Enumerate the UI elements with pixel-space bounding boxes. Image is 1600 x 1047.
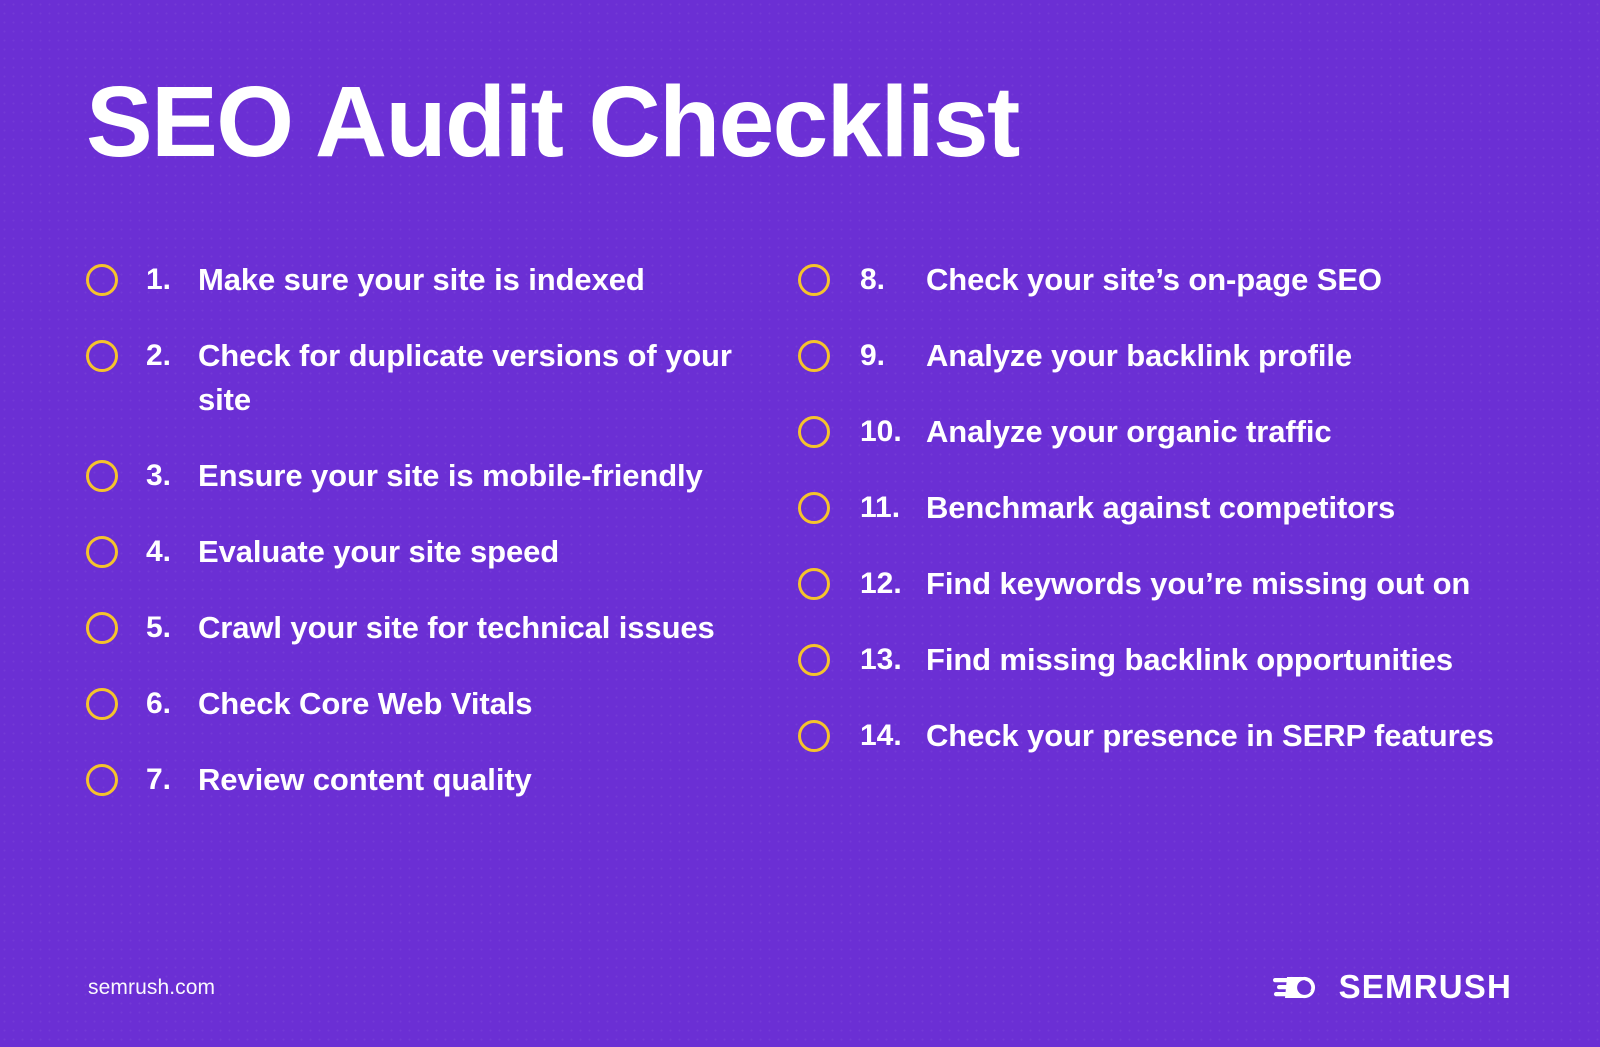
- page-title: SEO Audit Checklist: [86, 68, 1019, 176]
- checklist-column-left: 1.Make sure your site is indexed2.Check …: [86, 258, 786, 802]
- footer-website-url: semrush.com: [88, 976, 215, 1000]
- checkbox-circle-icon[interactable]: [86, 612, 118, 644]
- checklist-item[interactable]: 1.Make sure your site is indexed: [86, 258, 786, 302]
- checklist-item-label: Review content quality: [198, 758, 758, 802]
- checklist-item[interactable]: 14.Check your presence in SERP features: [798, 714, 1578, 758]
- checklist-item[interactable]: 6.Check Core Web Vitals: [86, 682, 786, 726]
- checkbox-circle-icon[interactable]: [798, 492, 830, 524]
- checklist-item-label: Benchmark against competitors: [926, 486, 1546, 530]
- checklist-item-number: 3.: [146, 454, 198, 498]
- checklist-item-label: Check your presence in SERP features: [926, 714, 1546, 758]
- checklist-item-number: 14.: [860, 714, 926, 758]
- checklist-item[interactable]: 13.Find missing backlink opportunities: [798, 638, 1578, 682]
- checklist-item-label: Make sure your site is indexed: [198, 258, 758, 302]
- checklist-item[interactable]: 8.Check your site’s on-page SEO: [798, 258, 1578, 302]
- semrush-wordmark: SEMRUSH: [1339, 970, 1512, 1003]
- checklist-item[interactable]: 7.Review content quality: [86, 758, 786, 802]
- checklist-item-label: Analyze your organic traffic: [926, 410, 1546, 454]
- checkbox-circle-icon[interactable]: [86, 764, 118, 796]
- checklist-item-number: 2.: [146, 334, 198, 378]
- checklist-item[interactable]: 5.Crawl your site for technical issues: [86, 606, 786, 650]
- checkbox-circle-icon[interactable]: [798, 340, 830, 372]
- checklist-item[interactable]: 10.Analyze your organic traffic: [798, 410, 1578, 454]
- checklist-item-label: Evaluate your site speed: [198, 530, 758, 574]
- checklist-item-label: Analyze your backlink profile: [926, 334, 1546, 378]
- checklist-item-label: Ensure your site is mobile-friendly: [198, 454, 758, 498]
- checkbox-circle-icon[interactable]: [86, 340, 118, 372]
- checkbox-circle-icon[interactable]: [798, 264, 830, 296]
- checklist-item-number: 11.: [860, 486, 926, 530]
- checklist-item-number: 9.: [860, 334, 926, 378]
- checkbox-circle-icon[interactable]: [798, 720, 830, 752]
- checklist-item-number: 1.: [146, 258, 198, 302]
- checklist-item-label: Find keywords you’re missing out on: [926, 562, 1546, 606]
- checklist-item[interactable]: 4.Evaluate your site speed: [86, 530, 786, 574]
- checklist-item[interactable]: 11.Benchmark against competitors: [798, 486, 1578, 530]
- checklist-item[interactable]: 9.Analyze your backlink profile: [798, 334, 1578, 378]
- checklist-item-number: 8.: [860, 258, 926, 302]
- checkbox-circle-icon[interactable]: [86, 264, 118, 296]
- checklist-item-label: Check your site’s on-page SEO: [926, 258, 1546, 302]
- checkbox-circle-icon[interactable]: [86, 688, 118, 720]
- checklist-item-number: 10.: [860, 410, 926, 454]
- checklist-item[interactable]: 3.Ensure your site is mobile-friendly: [86, 454, 786, 498]
- checkbox-circle-icon[interactable]: [798, 644, 830, 676]
- semrush-logo: SEMRUSH: [1273, 969, 1512, 1003]
- checklist-item-label: Check for duplicate versions of your sit…: [198, 334, 758, 422]
- checklist-item-number: 13.: [860, 638, 926, 682]
- checklist-item[interactable]: 2.Check for duplicate versions of your s…: [86, 334, 786, 422]
- checklist-item-number: 12.: [860, 562, 926, 606]
- checklist-item-number: 7.: [146, 758, 198, 802]
- checkbox-circle-icon[interactable]: [798, 568, 830, 600]
- checklist-item-number: 5.: [146, 606, 198, 650]
- checkbox-circle-icon[interactable]: [86, 460, 118, 492]
- semrush-comet-icon: [1273, 969, 1325, 1003]
- checklist-item-number: 4.: [146, 530, 198, 574]
- seo-audit-checklist-poster: SEO Audit Checklist 1.Make sure your sit…: [0, 0, 1600, 1047]
- checkbox-circle-icon[interactable]: [86, 536, 118, 568]
- checklist-item[interactable]: 12.Find keywords you’re missing out on: [798, 562, 1578, 606]
- checkbox-circle-icon[interactable]: [798, 416, 830, 448]
- checklist-item-number: 6.: [146, 682, 198, 726]
- checklist-item-label: Find missing backlink opportunities: [926, 638, 1546, 682]
- checklist-item-label: Crawl your site for technical issues: [198, 606, 758, 650]
- checklist-column-right: 8.Check your site’s on-page SEO9.Analyze…: [798, 258, 1578, 758]
- checklist-item-label: Check Core Web Vitals: [198, 682, 758, 726]
